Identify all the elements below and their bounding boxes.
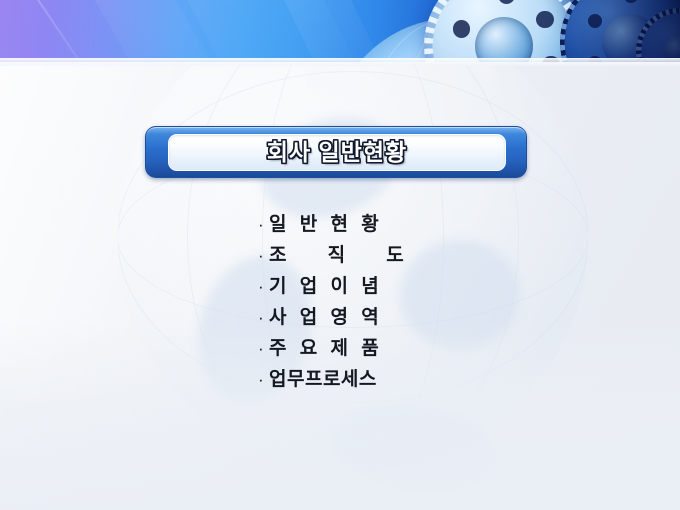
bullet-icon: · [258, 240, 269, 271]
bullet-icon: · [258, 271, 269, 302]
list-item[interactable]: · 주 요 제 품 [258, 333, 598, 364]
list-item-label: 주 요 제 품 [269, 333, 383, 364]
list-item[interactable]: · 업무프로세스 [258, 364, 598, 395]
header-banner [0, 0, 680, 62]
list-item-label: 사 업 영 역 [269, 302, 383, 333]
bullet-icon: · [258, 209, 269, 240]
list-item[interactable]: · 조 직 도 [258, 240, 598, 271]
bullet-icon: · [258, 333, 269, 364]
list-item[interactable]: · 기 업 이 념 [258, 271, 598, 302]
header-under-band [0, 58, 680, 66]
slide-canvas: 회사 일반현황 · 일 반 현 황 · 조 직 도 · 기 업 이 념 · 사 … [0, 0, 680, 510]
agenda-list: · 일 반 현 황 · 조 직 도 · 기 업 이 념 · 사 업 영 역 · … [258, 209, 598, 395]
list-item-label: 업무프로세스 [269, 364, 377, 395]
list-item-label: 기 업 이 념 [269, 271, 383, 302]
header-right-shade [560, 0, 680, 62]
list-item-label: 조 직 도 [269, 240, 408, 271]
list-item-label: 일 반 현 황 [269, 209, 383, 240]
slide-title-plate: 회사 일반현황 [145, 126, 527, 178]
slide-title-inner-panel: 회사 일반현황 [168, 134, 506, 171]
bullet-icon: · [258, 302, 269, 333]
page-title: 회사 일반현황 [267, 141, 407, 164]
list-item[interactable]: · 사 업 영 역 [258, 302, 598, 333]
bullet-icon: · [258, 364, 269, 395]
list-item[interactable]: · 일 반 현 황 [258, 209, 598, 240]
